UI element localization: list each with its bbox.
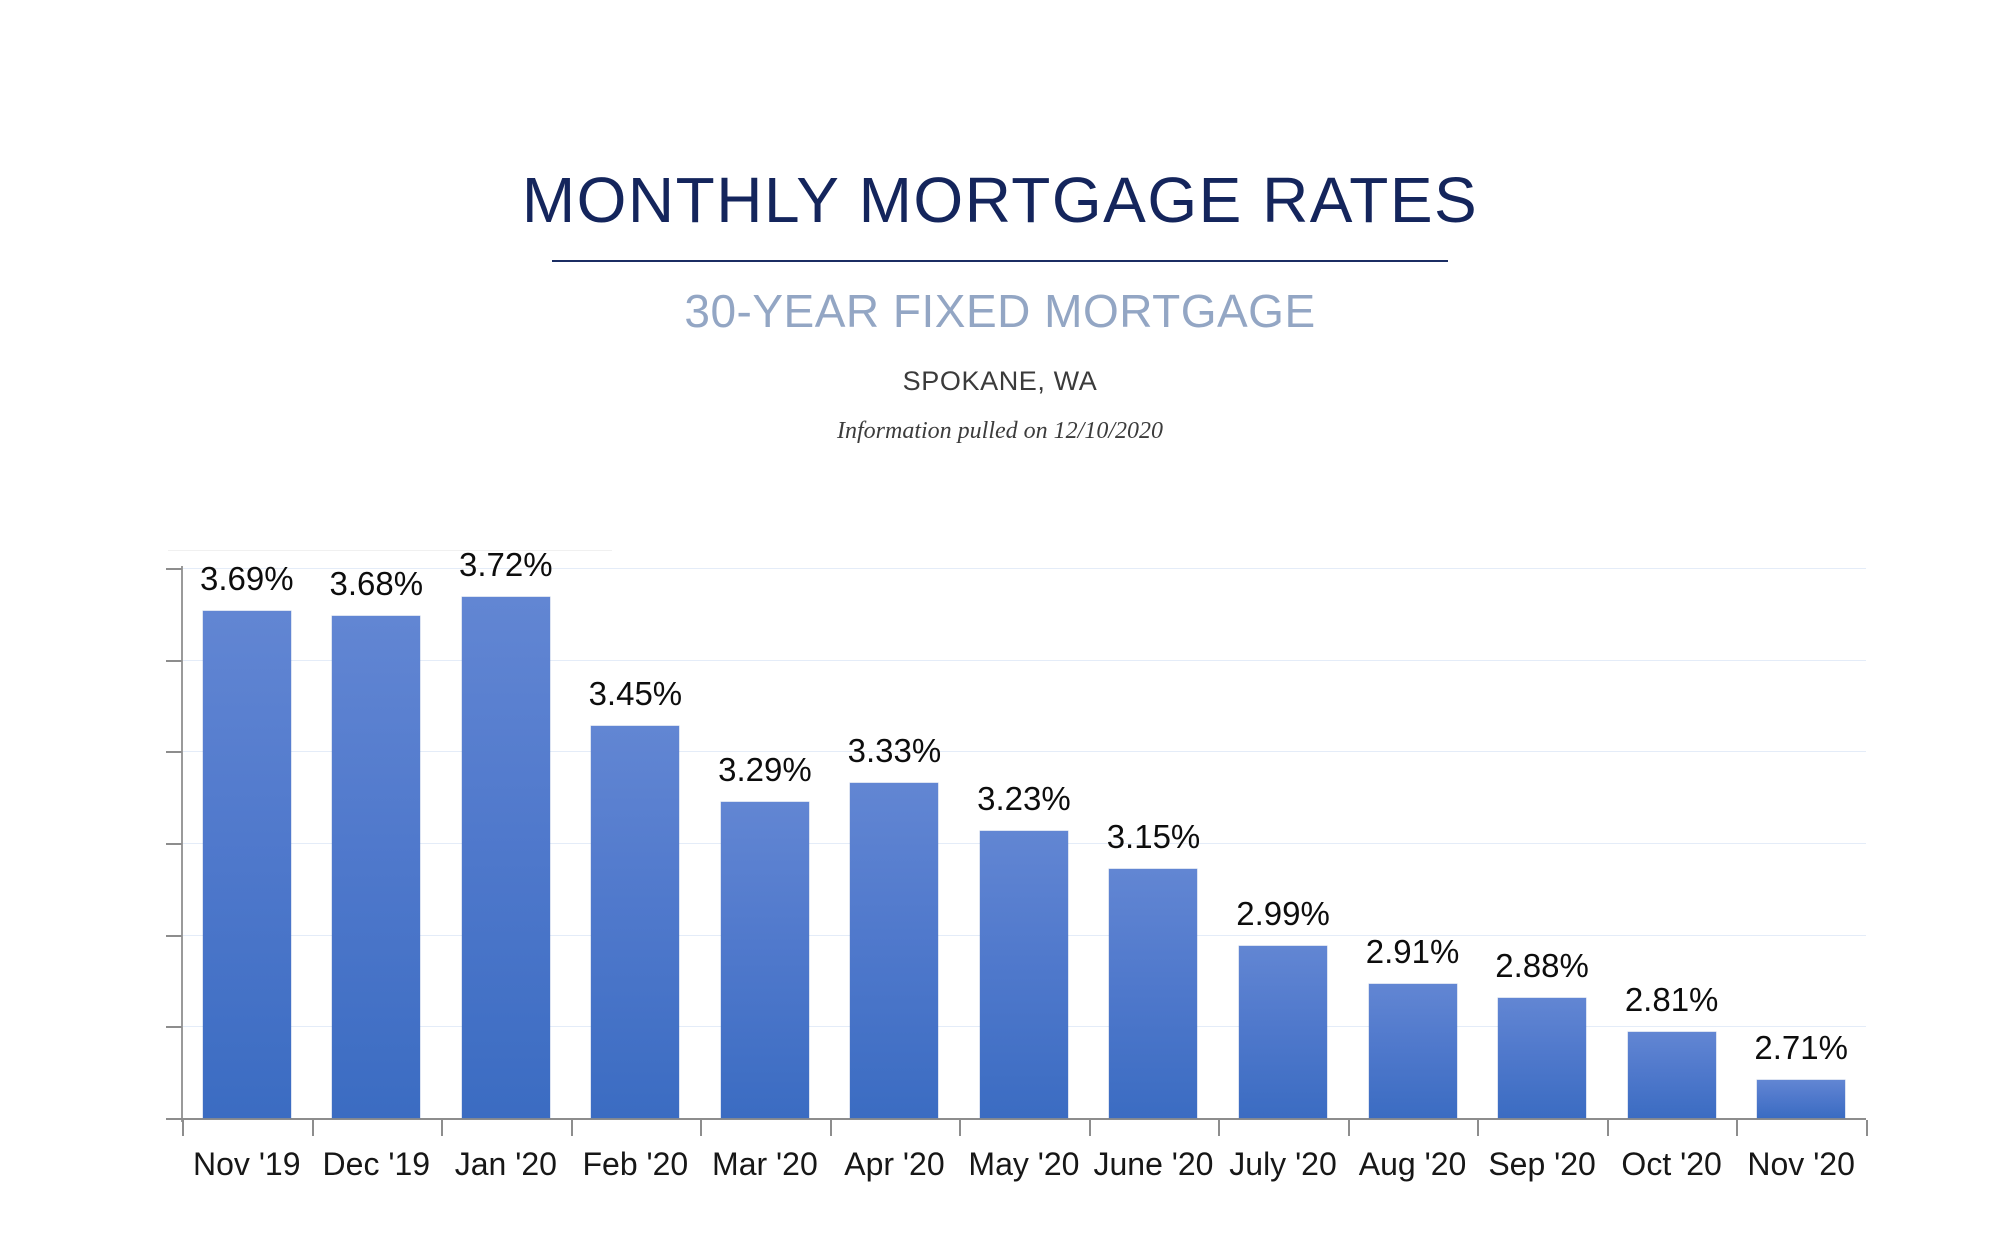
bar-slot: 3.33% [830, 568, 960, 1118]
bar[interactable] [462, 597, 550, 1118]
bar-value-label: 3.23% [977, 782, 1071, 815]
y-axis-tick [166, 751, 182, 753]
bar-value-label: 3.15% [1107, 820, 1201, 853]
x-axis-tick [571, 1120, 573, 1136]
bar[interactable] [980, 831, 1068, 1118]
bar-value-label: 2.71% [1754, 1031, 1848, 1064]
y-axis-tick [166, 843, 182, 845]
x-axis-tick [1348, 1120, 1350, 1136]
x-axis-tick-labels: Nov '19Dec '19Jan '20Feb '20Mar '20Apr '… [182, 1148, 1866, 1180]
x-axis-tick [312, 1120, 314, 1136]
x-axis-label: Aug '20 [1348, 1148, 1478, 1180]
bar-value-label: 2.99% [1236, 897, 1330, 930]
bar-slot: 3.45% [571, 568, 701, 1118]
x-axis-tick [182, 1120, 184, 1136]
x-axis-tick [1866, 1120, 1868, 1136]
bar[interactable] [203, 611, 291, 1118]
bar-slot: 3.15% [1089, 568, 1219, 1118]
x-axis-tick [830, 1120, 832, 1136]
x-axis-label: Apr '20 [830, 1148, 960, 1180]
y-axis-tick [166, 568, 182, 570]
y-axis-tick [166, 1026, 182, 1028]
x-axis-label: Feb '20 [571, 1148, 701, 1180]
bar-slot: 3.69% [182, 568, 312, 1118]
bar-slot: 2.81% [1607, 568, 1737, 1118]
x-axis-label: Sep '20 [1477, 1148, 1607, 1180]
bar-slot: 2.91% [1348, 568, 1478, 1118]
bar-value-label: 3.29% [718, 753, 812, 786]
bar-value-label: 3.45% [589, 677, 683, 710]
x-axis-label: Nov '20 [1736, 1148, 1866, 1180]
x-axis-label: Oct '20 [1607, 1148, 1737, 1180]
x-axis-tick [700, 1120, 702, 1136]
x-axis-line [182, 1118, 1866, 1120]
bar[interactable] [721, 802, 809, 1118]
x-axis-tick [1218, 1120, 1220, 1136]
bar-value-label: 2.88% [1495, 949, 1589, 982]
x-axis-label: Dec '19 [312, 1148, 442, 1180]
bar-value-label: 3.33% [848, 734, 942, 767]
y-axis-tick [166, 660, 182, 662]
y-axis-tick [166, 1118, 182, 1120]
bar-slot: 2.99% [1218, 568, 1348, 1118]
bar-value-label: 2.91% [1366, 935, 1460, 968]
bar-slot: 3.72% [441, 568, 571, 1118]
bar-value-label: 2.81% [1625, 983, 1719, 1016]
x-axis-tick [1477, 1120, 1479, 1136]
bar-slot: 3.68% [312, 568, 442, 1118]
bar-slot: 2.88% [1477, 568, 1607, 1118]
bar-slot: 3.29% [700, 568, 830, 1118]
bar[interactable] [1109, 869, 1197, 1118]
y-axis-tick [166, 935, 182, 937]
bar[interactable] [332, 616, 420, 1118]
bar-slot: 2.71% [1736, 568, 1866, 1118]
bar-value-label: 3.69% [200, 562, 294, 595]
bar[interactable] [1239, 946, 1327, 1118]
bar-chart: 3.69%3.68%3.72%3.45%3.29%3.33%3.23%3.15%… [0, 0, 2000, 1250]
bar[interactable] [1628, 1032, 1716, 1118]
bar-value-label: 3.68% [330, 567, 424, 600]
x-axis-tick [1607, 1120, 1609, 1136]
x-axis-tick [959, 1120, 961, 1136]
x-axis-label: May '20 [959, 1148, 1089, 1180]
x-axis-tick [441, 1120, 443, 1136]
bar-value-label: 3.72% [459, 548, 553, 581]
bar[interactable] [1369, 984, 1457, 1118]
x-axis-label: Mar '20 [700, 1148, 830, 1180]
bar-series: 3.69%3.68%3.72%3.45%3.29%3.33%3.23%3.15%… [182, 568, 1866, 1118]
x-axis-label: Jan '20 [441, 1148, 571, 1180]
x-axis-tick [1089, 1120, 1091, 1136]
x-axis-label: June '20 [1089, 1148, 1219, 1180]
x-axis-label: July '20 [1218, 1148, 1348, 1180]
bar-slot: 3.23% [959, 568, 1089, 1118]
bar[interactable] [1757, 1080, 1845, 1118]
x-axis-tick [1736, 1120, 1738, 1136]
bar[interactable] [1498, 998, 1586, 1118]
x-axis-label: Nov '19 [182, 1148, 312, 1180]
bar[interactable] [850, 783, 938, 1118]
bar[interactable] [591, 726, 679, 1118]
